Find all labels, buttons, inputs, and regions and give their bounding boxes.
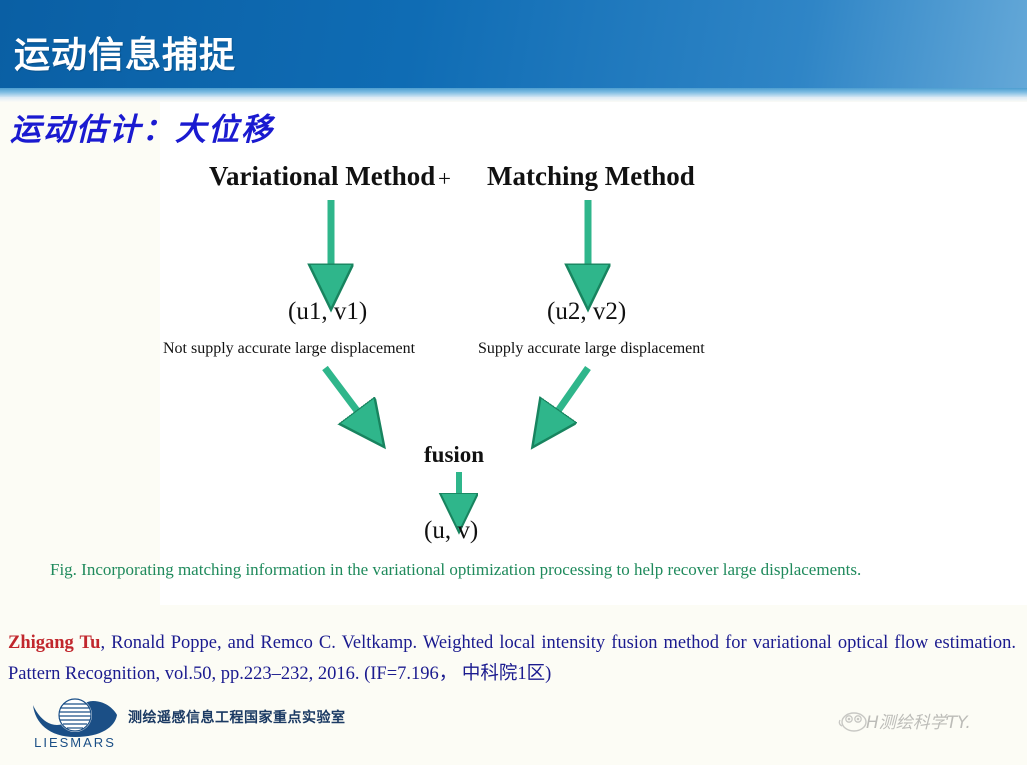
node-pair-u1v1: (u1, v1) [288,298,367,326]
node-matching-method: Matching Method [487,161,695,192]
node-desc-right: Supply accurate large displacement [478,340,705,358]
header-accent-band [0,88,1027,97]
citation-author: Zhigang Tu [8,633,100,653]
slide-canvas: 运动信息捕捉 运动估计：大位移 Variational Method + Mat… [0,0,1027,765]
liesmars-logo-text: LIESMARS [27,735,123,750]
node-pair-u2v2: (u2, v2) [547,298,626,326]
watermark-mascot-icon [838,708,868,734]
laboratory-name: 测绘遥感信息工程国家重点实验室 [128,707,346,727]
node-fusion: fusion [424,442,484,468]
node-variational-method: Variational Method [209,161,435,192]
node-desc-left: Not supply accurate large displacement [163,340,415,358]
citation-block: Zhigang Tu, Ronald Poppe, and Remco C. V… [8,628,1016,690]
header-accent-band-fade [0,97,1027,102]
node-plus-operator: + [438,166,451,192]
watermark: H测绘科学TY. [838,704,1018,738]
page-title: 运动信息捕捉 [14,26,236,78]
footer-divider [0,690,1027,691]
section-subtitle: 运动估计：大位移 [10,104,274,149]
node-result-uv: (u, v) [424,517,478,545]
figure-caption: Fig. Incorporating matching information … [50,560,990,580]
watermark-text: H测绘科学TY. [866,708,971,733]
liesmars-logo: LIESMARS [27,695,123,755]
citation-body: , Ronald Poppe, and Remco C. Veltkamp. W… [8,633,1016,684]
